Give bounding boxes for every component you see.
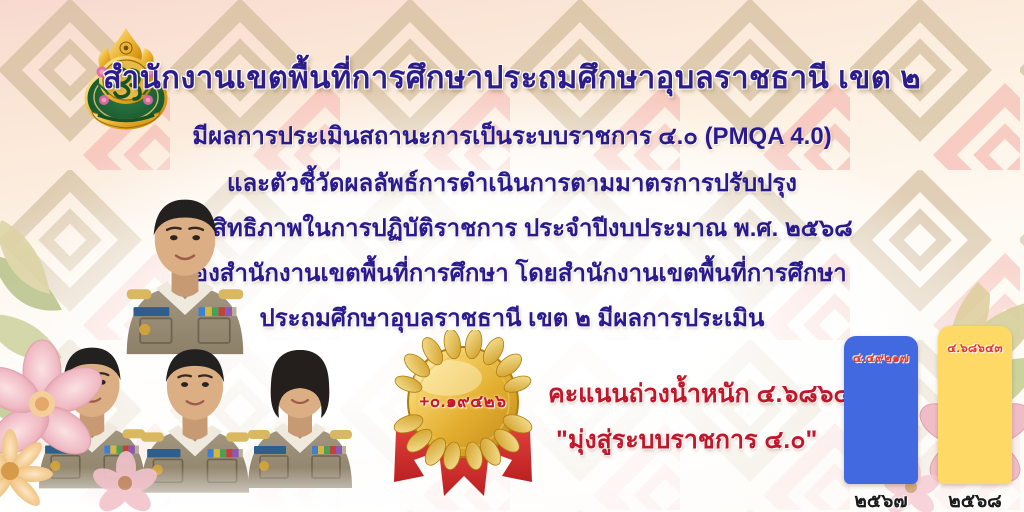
motto-text: "มุ่งสู่ระบบราชการ ๔.๐" [556, 420, 817, 460]
chart-bars: ๔.๔๙๒๑๗ ๔.๖๘๖๔๓ [842, 326, 1018, 484]
bar-previous-value-label: ๔.๔๙๒๑๗ [844, 349, 918, 368]
page-title: สำนักงานเขตพื้นที่การศึกษาประถมศึกษาอุบล… [103, 52, 921, 102]
score-comparison-chart: ๔.๔๙๒๑๗ ๔.๖๘๖๔๓ ๒๕๖๗ ๒๕๖๘ [842, 326, 1018, 512]
bar-current-value-label: ๔.๖๘๖๔๓ [938, 339, 1012, 358]
body-line-1: มีผลการประเมินสถานะการเป็นระบบราชการ ๔.๐… [192, 116, 831, 155]
banner-root: สำนักงานเขตพื้นที่การศึกษาประถมศึกษาอุบล… [0, 0, 1024, 512]
bar-previous-year: ๔.๔๙๒๑๗ [844, 336, 918, 484]
year-label-current: ๒๕๖๘ [938, 486, 1012, 512]
chart-year-labels: ๒๕๖๗ ๒๕๖๘ [842, 484, 1018, 512]
gold-medal-laurel-ribbon-icon: +๐.๑๙๔๒๖ [378, 330, 548, 505]
medal-delta-value: +๐.๑๙๔๒๖ [378, 388, 548, 415]
year-label-previous: ๒๕๖๗ [844, 486, 918, 512]
weighted-score-text: คะแนนถ่วงน้ำหนัก ๔.๖๘๖๔๓ [548, 374, 870, 414]
bar-current-year: ๔.๖๘๖๔๓ [938, 326, 1012, 484]
officials-group-photo [0, 170, 400, 512]
